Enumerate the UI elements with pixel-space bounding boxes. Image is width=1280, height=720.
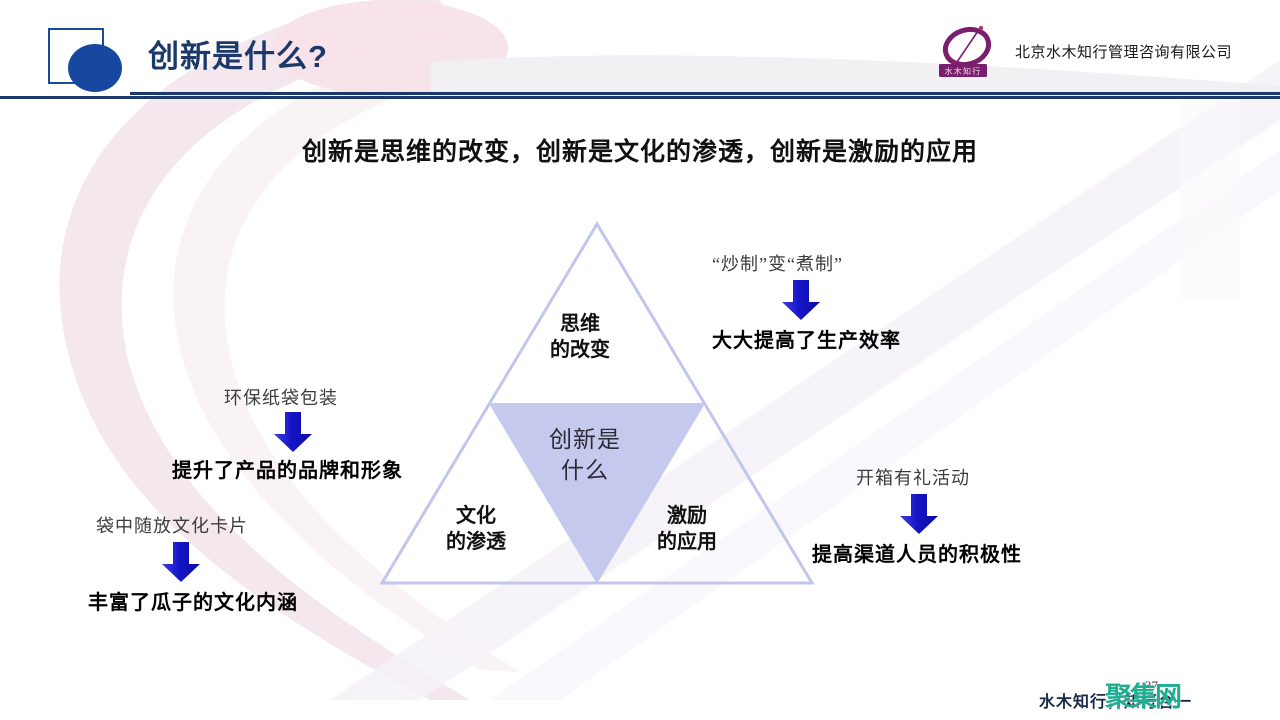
down-arrow-icon xyxy=(272,410,314,454)
annotation-cause: “炒制”变“煮制” xyxy=(712,250,843,276)
center-label-line2: 什么 xyxy=(520,456,650,487)
down-arrow-icon xyxy=(898,492,940,536)
annotation-left-bottom: 袋中随放文化卡片 丰富了瓜子的文化内涵 xyxy=(88,512,298,615)
center-label-line1: 创新是 xyxy=(520,425,650,456)
title-underline xyxy=(130,92,1280,95)
down-arrow-icon xyxy=(160,540,202,584)
corner-label-right-line1: 激励 xyxy=(657,504,717,530)
annotation-cause: 环保纸袋包装 xyxy=(224,384,338,410)
company-name: 北京水木知行管理咨询有限公司 xyxy=(1015,41,1232,62)
corner-label-top-line1: 思维 xyxy=(550,312,610,338)
page-title: 创新是什么? xyxy=(148,31,328,76)
annotation-effect: 提高渠道人员的积极性 xyxy=(812,538,1022,567)
center-label: 创新是 什么 xyxy=(520,425,650,487)
watermark: 聚集网 xyxy=(1105,675,1180,714)
annotation-effect: 大大提高了生产效率 xyxy=(712,324,901,353)
corner-label-top-line2: 的改变 xyxy=(550,338,610,364)
corner-label-right-line2: 的应用 xyxy=(657,530,717,556)
down-arrow-icon xyxy=(780,278,822,322)
annotation-bottom-right: 开箱有礼活动 提高渠道人员的积极性 xyxy=(812,464,1022,567)
annotation-effect: 丰富了瓜子的文化内涵 xyxy=(88,586,298,615)
corner-label-left-line1: 文化 xyxy=(446,504,506,530)
header-divider xyxy=(0,96,1280,99)
slide-canvas: 创新是什么? 水木知行 北京水木知行管理咨询有限公司 创新是思维的改变，创新是文… xyxy=(0,0,1280,720)
annotation-effect: 提升了产品的品牌和形象 xyxy=(172,454,403,483)
svg-text:水木知行: 水木知行 xyxy=(945,66,982,76)
corner-label-right: 激励 的应用 xyxy=(657,504,717,555)
annotation-top-right: “炒制”变“煮制” 大大提高了生产效率 xyxy=(712,250,901,353)
corner-label-top: 思维 的改变 xyxy=(550,312,610,363)
brand-block: 水木知行 北京水木知行管理咨询有限公司 xyxy=(933,22,1232,80)
purple-ellipse-logo-icon: 水木知行 xyxy=(933,23,1001,79)
corner-label-left: 文化 的渗透 xyxy=(446,504,506,555)
filled-circle-icon xyxy=(68,44,122,92)
annotation-cause: 开箱有礼活动 xyxy=(856,464,970,490)
corner-label-left-line2: 的渗透 xyxy=(446,530,506,556)
annotation-cause: 袋中随放文化卡片 xyxy=(96,512,248,538)
slide-subtitle: 创新是思维的改变，创新是文化的渗透，创新是激励的应用 xyxy=(0,132,1280,168)
annotation-left-top: 环保纸袋包装 提升了产品的品牌和形象 xyxy=(172,384,403,483)
